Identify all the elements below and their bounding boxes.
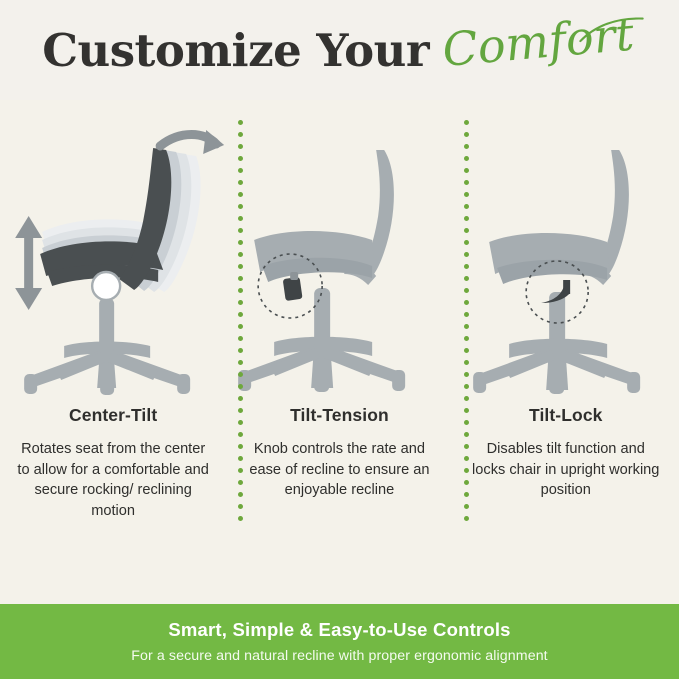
divider-dot: [464, 216, 469, 221]
divider-dot: [238, 456, 243, 461]
divider-dot: [464, 444, 469, 449]
divider-dot: [464, 240, 469, 245]
infographic-root: Customize Your Comfort: [0, 0, 679, 679]
chair-base-group: [238, 288, 405, 392]
divider-dot: [464, 132, 469, 137]
divider-dot: [238, 180, 243, 185]
chair-base-group: [24, 298, 190, 395]
footer-subtitle: For a secure and natural recline with pr…: [131, 648, 547, 664]
divider-dot: [238, 420, 243, 425]
divider-dot: [464, 204, 469, 209]
divider-dot: [464, 312, 469, 317]
divider-dot: [464, 408, 469, 413]
page-title-script: Comfort: [440, 6, 636, 77]
page-title-script-text: Comfort: [440, 6, 636, 77]
divider-dot: [238, 264, 243, 269]
divider-dot: [238, 408, 243, 413]
divider-dot: [238, 396, 243, 401]
divider-dot: [238, 444, 243, 449]
divider-dot: [238, 300, 243, 305]
divider-dot: [238, 384, 243, 389]
divider-dot: [464, 300, 469, 305]
divider-dot: [238, 492, 243, 497]
caption-title: Center-Tilt: [16, 405, 210, 426]
page-title: Customize Your Comfort: [42, 23, 637, 77]
office-chair-tilt-lock-icon: [453, 120, 679, 395]
divider-dot: [238, 132, 243, 137]
divider-dot: [238, 480, 243, 485]
divider-dot: [464, 348, 469, 353]
divider-dot: [238, 324, 243, 329]
lock-lever-icon: [541, 280, 570, 303]
divider-dot: [238, 168, 243, 173]
divider-dot: [238, 156, 243, 161]
divider-dot: [464, 360, 469, 365]
divider-dot: [464, 324, 469, 329]
divider-dot: [464, 156, 469, 161]
divider-dot: [464, 228, 469, 233]
divider-dot: [238, 372, 243, 377]
divider-dot: [464, 192, 469, 197]
page-title-main: Customize Your: [42, 24, 429, 77]
caption-tilt-tension: Tilt-Tension Knob controls the rate and …: [226, 405, 452, 501]
divider-dot: [464, 180, 469, 185]
divider-dot: [464, 516, 469, 521]
column-divider-right: [464, 120, 470, 520]
divider-dot: [238, 312, 243, 317]
tilt-tension-illustration: [226, 120, 452, 395]
caption-body: Disables tilt function and locks chair i…: [469, 439, 663, 501]
divider-dot: [238, 216, 243, 221]
divider-dot: [464, 468, 469, 473]
divider-dot: [464, 492, 469, 497]
divider-dot: [464, 264, 469, 269]
divider-dot: [464, 396, 469, 401]
curved-rotate-arrow-icon: [160, 130, 224, 154]
caption-tilt-lock: Tilt-Lock Disables tilt function and loc…: [453, 405, 679, 501]
caption-body: Knob controls the rate and ease of recli…: [242, 439, 436, 501]
divider-dot: [238, 276, 243, 281]
office-chair-center-tilt-icon: [0, 120, 226, 395]
tilt-lock-illustration: [453, 120, 679, 395]
footer-banner: Smart, Simple & Easy-to-Use Controls For…: [0, 604, 679, 679]
feature-column-tilt-tension: Tilt-Tension Knob controls the rate and …: [226, 100, 452, 604]
divider-dot: [464, 504, 469, 509]
caption-title: Tilt-Tension: [242, 405, 436, 426]
feature-column-tilt-lock: Tilt-Lock Disables tilt function and loc…: [453, 100, 679, 604]
divider-dot: [464, 168, 469, 173]
caption-body: Rotates seat from the center to allow fo…: [16, 439, 210, 522]
divider-dot: [464, 420, 469, 425]
divider-dot: [238, 252, 243, 257]
divider-dot: [464, 252, 469, 257]
caption-center-tilt: Center-Tilt Rotates seat from the center…: [0, 405, 226, 522]
divider-dot: [238, 228, 243, 233]
divider-dot: [464, 336, 469, 341]
divider-dot: [464, 432, 469, 437]
divider-dot: [464, 456, 469, 461]
pivot-point-marker: [92, 272, 120, 300]
chair-base-group: [473, 292, 640, 394]
divider-dot: [238, 516, 243, 521]
divider-dot: [464, 384, 469, 389]
divider-dot: [238, 240, 243, 245]
divider-dot: [464, 288, 469, 293]
divider-dot: [238, 288, 243, 293]
divider-dot: [464, 480, 469, 485]
divider-dot: [238, 204, 243, 209]
header-banner: Customize Your Comfort: [0, 0, 679, 100]
caption-title: Tilt-Lock: [469, 405, 663, 426]
divider-dot: [464, 144, 469, 149]
divider-dot: [238, 120, 243, 125]
feature-column-center-tilt: Center-Tilt Rotates seat from the center…: [0, 100, 226, 604]
divider-dot: [238, 348, 243, 353]
footer-title: Smart, Simple & Easy-to-Use Controls: [168, 619, 510, 641]
divider-dot: [464, 120, 469, 125]
vertical-double-arrow-icon: [15, 216, 42, 310]
divider-dot: [238, 336, 243, 341]
divider-dot: [238, 144, 243, 149]
office-chair-tilt-tension-icon: [226, 120, 452, 395]
divider-dot: [238, 432, 243, 437]
divider-dot: [238, 360, 243, 365]
divider-dot: [464, 372, 469, 377]
column-divider-left: [238, 120, 244, 520]
divider-dot: [238, 468, 243, 473]
divider-dot: [464, 276, 469, 281]
divider-dot: [238, 504, 243, 509]
feature-columns: Center-Tilt Rotates seat from the center…: [0, 100, 679, 604]
divider-dot: [238, 192, 243, 197]
center-tilt-illustration: [0, 120, 226, 395]
